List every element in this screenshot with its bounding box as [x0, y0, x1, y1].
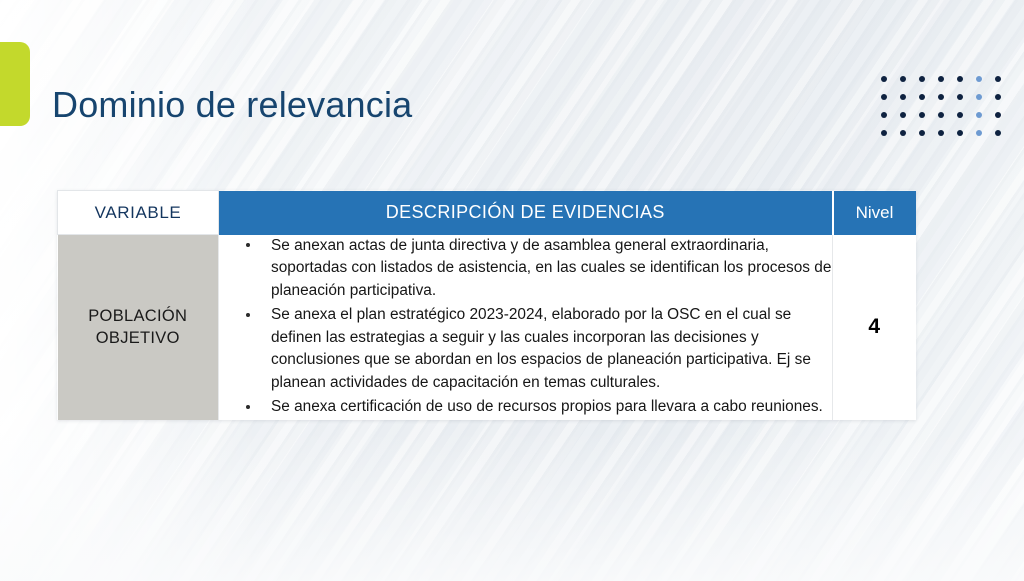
grid-dot — [995, 130, 1001, 136]
list-item-text: Se anexa el plan estratégico 2023-2024, … — [271, 306, 811, 391]
grid-dot — [957, 112, 963, 118]
grid-dot — [957, 76, 963, 82]
grid-dot — [938, 130, 944, 136]
list-item: Se anexa certificación de uso de recurso… — [219, 396, 832, 419]
grid-dot — [919, 76, 925, 82]
variable-label-line-1: POBLACIÓN — [58, 305, 219, 328]
grid-dot-highlight — [976, 130, 982, 136]
list-item-text: Se anexa certificación de uso de recurso… — [271, 398, 823, 415]
background-bottom-fade — [0, 431, 1024, 581]
dot-grid-decoration — [874, 70, 1007, 142]
table-header-row: VARIABLE DESCRIPCIÓN DE EVIDENCIAS Nivel — [58, 191, 916, 235]
grid-dot — [938, 112, 944, 118]
evidence-table: VARIABLE DESCRIPCIÓN DE EVIDENCIAS Nivel… — [57, 190, 916, 420]
slide: Dominio de relevancia — [0, 0, 1024, 581]
variable-label-line-2: OBJETIVO — [58, 327, 219, 350]
grid-dot — [995, 94, 1001, 100]
grid-dot — [900, 76, 906, 82]
grid-dot — [957, 94, 963, 100]
list-item-text: Se anexan actas de junta directiva y de … — [271, 237, 831, 300]
bullet-dot-icon — [246, 243, 250, 247]
grid-dot — [995, 112, 1001, 118]
bullet-dot-icon — [246, 405, 250, 409]
column-header-nivel: Nivel — [833, 191, 916, 235]
grid-dot — [900, 112, 906, 118]
list-item: Se anexa el plan estratégico 2023-2024, … — [219, 304, 832, 395]
grid-dot — [881, 112, 887, 118]
grid-dot — [900, 94, 906, 100]
grid-dot — [900, 130, 906, 136]
grid-dot — [881, 76, 887, 82]
cell-variable: POBLACIÓN OBJETIVO — [58, 235, 219, 420]
grid-dot-highlight — [976, 112, 982, 118]
bullet-dot-icon — [246, 313, 250, 317]
grid-dot — [881, 130, 887, 136]
evidence-bullet-list: Se anexan actas de junta directiva y de … — [219, 235, 832, 419]
column-header-variable: VARIABLE — [58, 191, 219, 235]
grid-dot — [995, 76, 1001, 82]
grid-dot — [938, 94, 944, 100]
grid-dot — [919, 112, 925, 118]
grid-dot — [919, 130, 925, 136]
list-item: Se anexan actas de junta directiva y de … — [219, 235, 832, 303]
grid-dot — [919, 94, 925, 100]
table-row: POBLACIÓN OBJETIVO Se anexan actas de ju… — [58, 235, 916, 420]
grid-dot-highlight — [976, 76, 982, 82]
accent-tab-shape — [0, 42, 30, 126]
column-header-description: DESCRIPCIÓN DE EVIDENCIAS — [219, 191, 833, 235]
grid-dot — [957, 130, 963, 136]
grid-dot-highlight — [976, 94, 982, 100]
cell-description: Se anexan actas de junta directiva y de … — [219, 235, 833, 420]
grid-dot — [938, 76, 944, 82]
cell-nivel-value: 4 — [833, 235, 916, 420]
grid-dot — [881, 94, 887, 100]
page-title: Dominio de relevancia — [52, 84, 412, 126]
